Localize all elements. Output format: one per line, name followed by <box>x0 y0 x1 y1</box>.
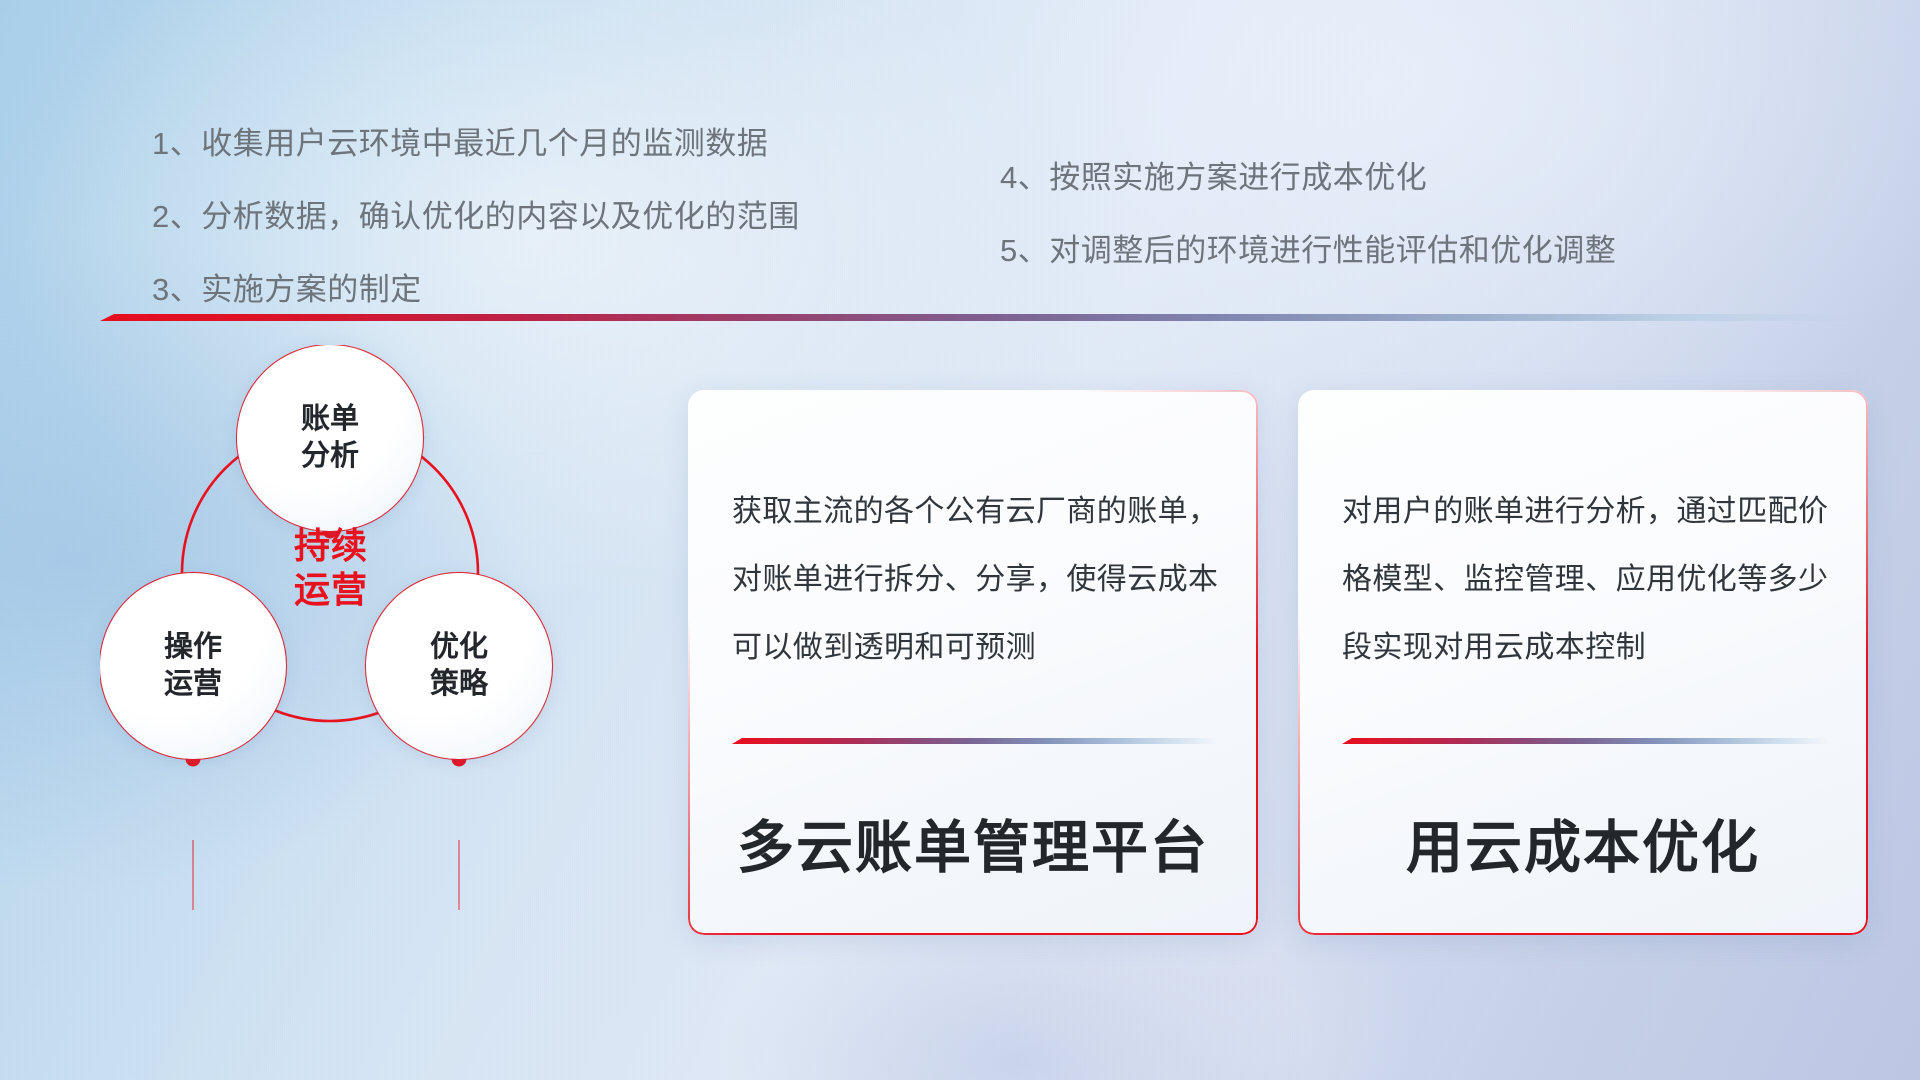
card-body-text: 获取主流的各个公有云厂商的账单，对账单进行拆分、分享，使得云成本可以做到透明和可… <box>732 478 1220 681</box>
venn-center-label: 持续运营 <box>266 513 396 623</box>
card-divider-line <box>732 738 1218 744</box>
step-item-1: 1、收集用户云环境中最近几个月的监测数据 <box>152 128 800 159</box>
section-divider-line <box>100 314 1890 321</box>
card-multi-cloud-bill-platform[interactable]: 获取主流的各个公有云厂商的账单，对账单进行拆分、分享，使得云成本可以做到透明和可… <box>688 390 1258 935</box>
venn-bubble-label-bill-analysis: 账单分析 <box>301 401 359 475</box>
venn-bubble-bill-analysis[interactable]: 账单分析 <box>237 345 423 531</box>
card-title: 多云账单管理平台 <box>688 802 1258 884</box>
continuous-operations-diagram: 账单分析 操作运营 优化策略 持续运营 <box>100 345 660 945</box>
venn-bubble-label-operations: 操作运营 <box>164 629 222 703</box>
step-item-4: 4、按照实施方案进行成本优化 <box>1000 162 1616 193</box>
step-item-5: 5、对调整后的环境进行性能评估和优化调整 <box>1000 235 1616 266</box>
card-body-text: 对用户的账单进行分析，通过匹配价格模型、监控管理、应用优化等多少段实现对用云成本… <box>1342 478 1830 681</box>
step-item-3: 3、实施方案的制定 <box>152 274 800 305</box>
card-title: 用云成本优化 <box>1298 802 1868 884</box>
steps-right-column: 4、按照实施方案进行成本优化 5、对调整后的环境进行性能评估和优化调整 <box>1000 162 1616 308</box>
step-item-2: 2、分析数据，确认优化的内容以及优化的范围 <box>152 201 800 232</box>
venn-bubble-operations[interactable]: 操作运营 <box>100 573 286 759</box>
card-cloud-cost-optimization[interactable]: 对用户的账单进行分析，通过匹配价格模型、监控管理、应用优化等多少段实现对用云成本… <box>1298 390 1868 935</box>
venn-bubble-label-optimization-strategy: 优化策略 <box>430 629 488 703</box>
card-divider-line <box>1342 738 1828 744</box>
